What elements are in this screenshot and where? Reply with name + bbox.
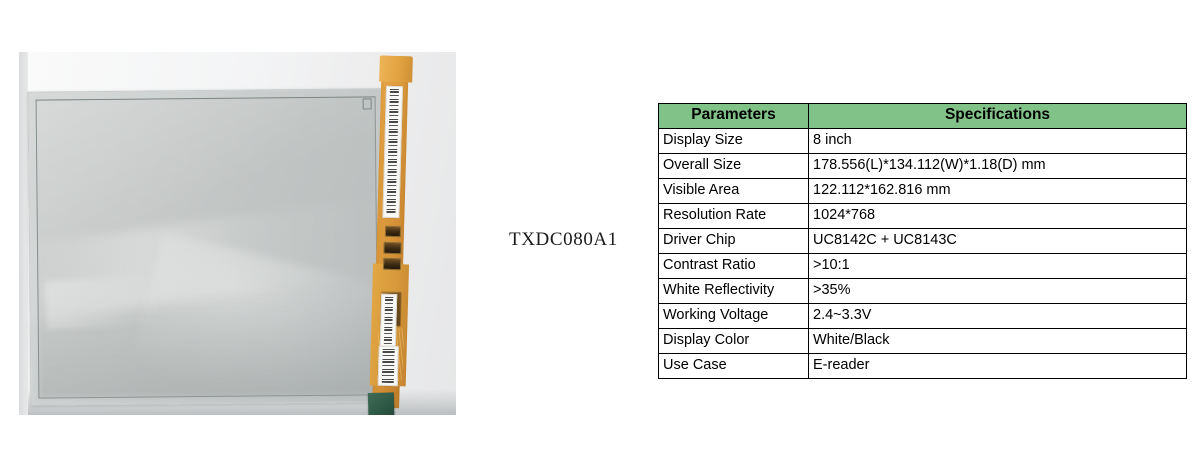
cell-parameter: Display Color bbox=[659, 329, 809, 354]
table-row: Driver ChipUC8142C + UC8143C bbox=[659, 229, 1187, 254]
specifications-table: Parameters Specifications Display Size8 … bbox=[658, 103, 1187, 379]
barcode-icon bbox=[382, 349, 395, 383]
cell-specification: 2.4~3.3V bbox=[809, 304, 1187, 329]
cell-specification: UC8142C + UC8143C bbox=[809, 229, 1187, 254]
cell-parameter: Overall Size bbox=[659, 154, 809, 179]
cell-specification: 178.556(L)*134.112(W)*1.18(D) mm bbox=[809, 154, 1187, 179]
cell-parameter: Use Case bbox=[659, 354, 809, 379]
pcb-green-tab bbox=[368, 392, 395, 415]
specifications-table-body: Display Size8 inchOverall Size178.556(L)… bbox=[659, 129, 1187, 379]
table-row: Overall Size178.556(L)*134.112(W)*1.18(D… bbox=[659, 154, 1187, 179]
cell-specification: >10:1 bbox=[809, 254, 1187, 279]
cell-specification: 122.112*162.816 mm bbox=[809, 179, 1187, 204]
table-row: Resolution Rate1024*768 bbox=[659, 204, 1187, 229]
photo-bench-edge bbox=[19, 52, 28, 415]
barcode-label bbox=[378, 346, 399, 387]
cell-specification: E-reader bbox=[809, 354, 1187, 379]
product-model-label: TXDC080A1 bbox=[509, 229, 618, 251]
table-row: Working Voltage2.4~3.3V bbox=[659, 304, 1187, 329]
cell-parameter: Display Size bbox=[659, 129, 809, 154]
cell-specification: 8 inch bbox=[809, 129, 1187, 154]
cell-parameter: White Reflectivity bbox=[659, 279, 809, 304]
table-row: White Reflectivity>35% bbox=[659, 279, 1187, 304]
cell-specification: >35% bbox=[809, 279, 1187, 304]
table-row: Contrast Ratio>10:1 bbox=[659, 254, 1187, 279]
epaper-bezel-line bbox=[36, 96, 379, 398]
specifications-table-container: Parameters Specifications Display Size8 … bbox=[658, 103, 1187, 379]
flex-component-pad bbox=[383, 258, 401, 270]
cell-parameter: Contrast Ratio bbox=[659, 254, 809, 279]
flex-component-pad bbox=[385, 226, 401, 237]
flex-cable-connector-head bbox=[379, 56, 413, 83]
table-row: Visible Area122.112*162.816 mm bbox=[659, 179, 1187, 204]
product-photo bbox=[19, 52, 456, 415]
epaper-panel bbox=[28, 88, 385, 405]
barcode-icon bbox=[386, 89, 399, 215]
column-header-parameters: Parameters bbox=[659, 104, 809, 129]
column-header-specifications: Specifications bbox=[809, 104, 1187, 129]
barcode-icon bbox=[384, 297, 393, 349]
table-row: Display Size8 inch bbox=[659, 129, 1187, 154]
barcode-label bbox=[380, 294, 398, 352]
table-row: Use CaseE-reader bbox=[659, 354, 1187, 379]
cell-specification: 1024*768 bbox=[809, 204, 1187, 229]
cell-specification: White/Black bbox=[809, 329, 1187, 354]
cell-parameter: Working Voltage bbox=[659, 304, 809, 329]
cell-parameter: Visible Area bbox=[659, 179, 809, 204]
flex-component-pad bbox=[383, 242, 401, 254]
panel-corner-mark bbox=[363, 98, 372, 109]
table-header-row: Parameters Specifications bbox=[659, 104, 1187, 129]
cell-parameter: Resolution Rate bbox=[659, 204, 809, 229]
table-row: Display ColorWhite/Black bbox=[659, 329, 1187, 354]
cell-parameter: Driver Chip bbox=[659, 229, 809, 254]
